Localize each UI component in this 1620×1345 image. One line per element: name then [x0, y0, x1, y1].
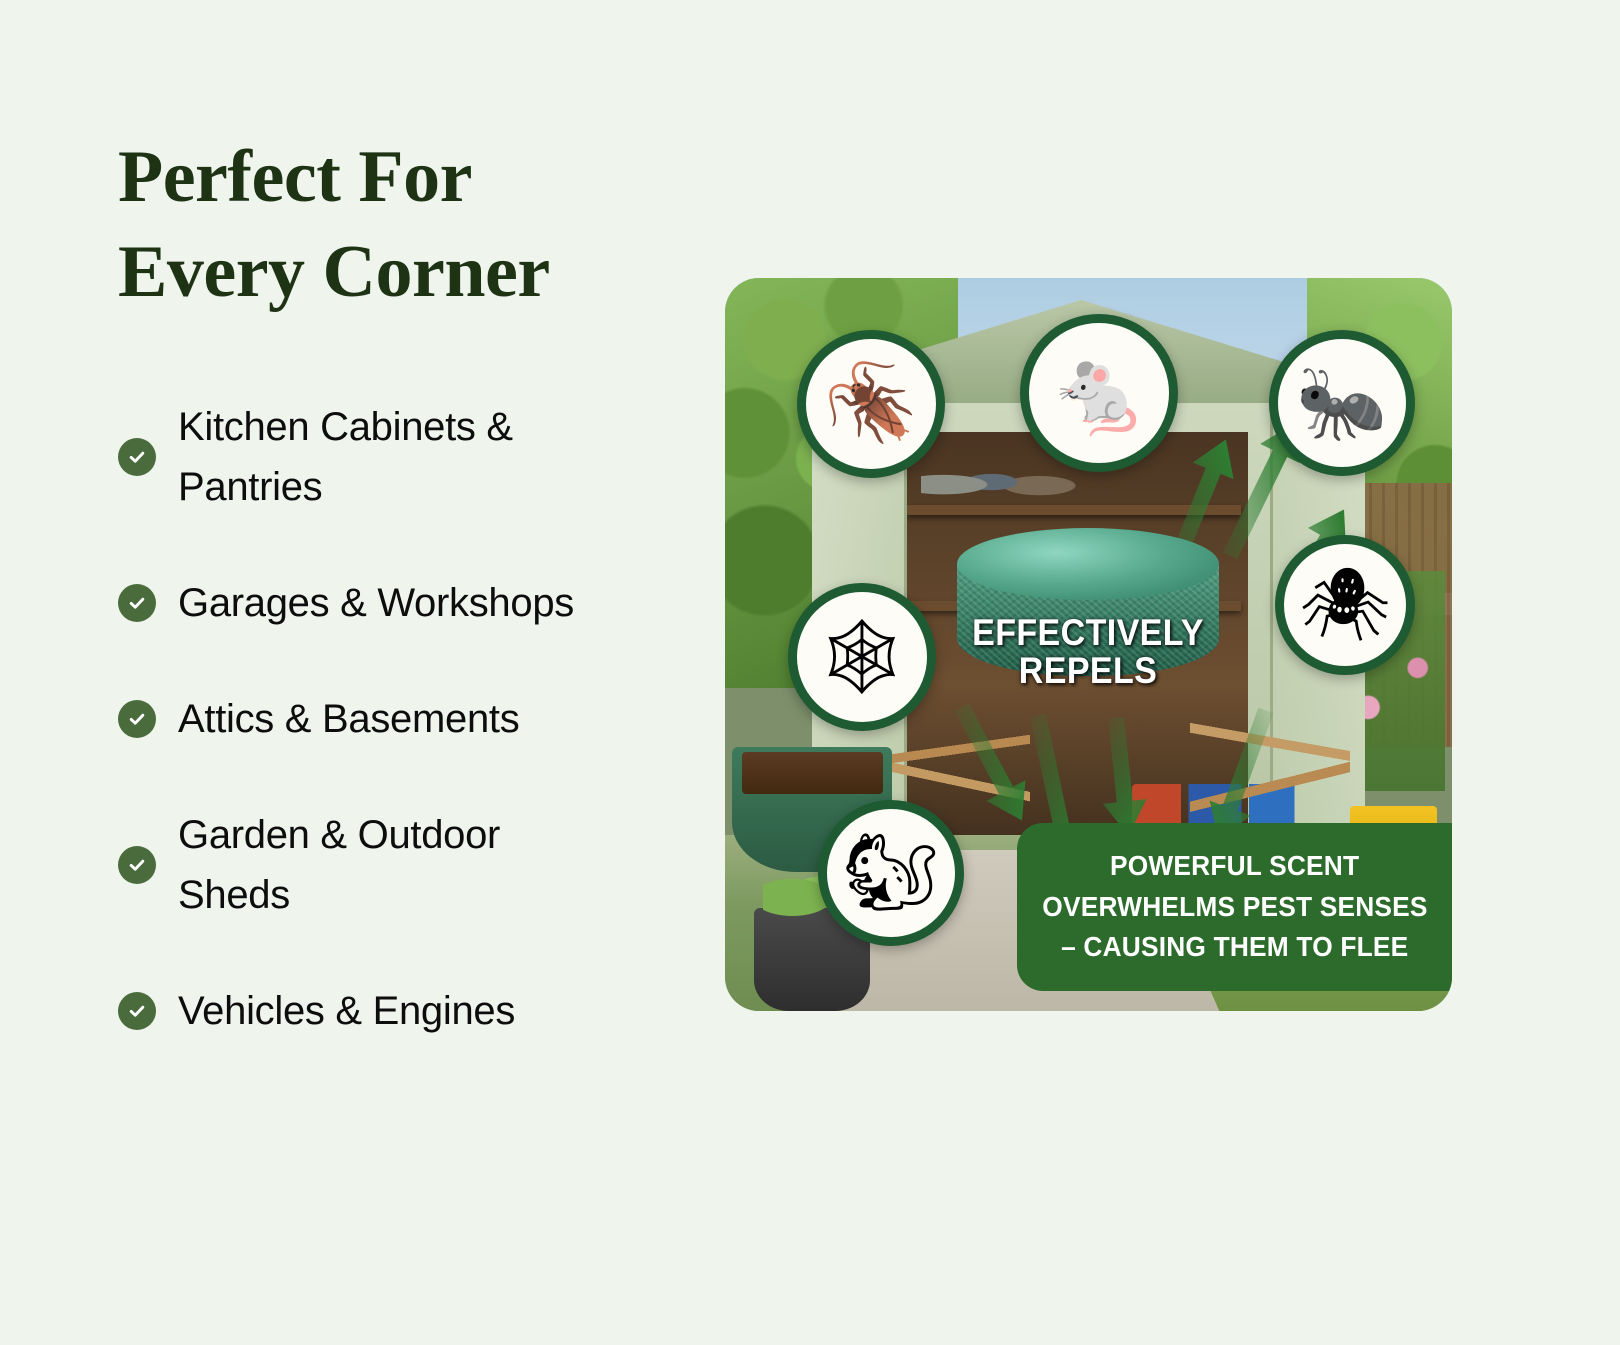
check-circle-icon: [118, 700, 156, 738]
list-item-label: Garden & Outdoor Sheds: [178, 805, 608, 925]
spider-glyph: 🕷: [1299, 569, 1390, 641]
tick-glyph: 🕸: [815, 620, 909, 694]
scent-claim-line-2: OVERWHELMS PEST SENSES: [1042, 887, 1427, 928]
tick-icon: 🕸: [788, 583, 936, 731]
puck-top: [957, 528, 1219, 600]
page-title: Perfect For Every Corner: [118, 130, 698, 319]
benefits-list: Kitchen Cabinets & Pantries Garages & Wo…: [118, 397, 698, 1041]
puck-label-line-1: EFFECTIVELY: [967, 614, 1208, 652]
check-circle-icon: [118, 438, 156, 476]
squirrel-icon: 🐿: [818, 800, 964, 946]
benefits-column: Perfect For Every Corner Kitchen Cabinet…: [118, 130, 698, 1041]
puck-label: EFFECTIVELY REPELS: [967, 614, 1208, 690]
list-item: Garages & Workshops: [118, 573, 698, 633]
scent-claim-line-3: – CAUSING THEM TO FLEE: [1061, 927, 1408, 968]
check-circle-icon: [118, 992, 156, 1030]
shelf-jars: [921, 454, 1081, 505]
list-item: Garden & Outdoor Sheds: [118, 805, 698, 925]
mouse-icon: 🐁: [1020, 314, 1178, 472]
check-circle-icon: [118, 584, 156, 622]
check-circle-icon: [118, 846, 156, 884]
ant-icon: 🐜: [1269, 330, 1415, 476]
puck-label-line-2: REPELS: [967, 652, 1208, 690]
squirrel-glyph: 🐿: [843, 835, 939, 911]
mouse-glyph: 🐁: [1048, 352, 1150, 434]
list-item-label: Garages & Workshops: [178, 573, 574, 633]
list-item-label: Kitchen Cabinets & Pantries: [178, 397, 608, 517]
list-item: Vehicles & Engines: [118, 981, 698, 1041]
promo-page: Perfect For Every Corner Kitchen Cabinet…: [0, 0, 1620, 1345]
list-item-label: Vehicles & Engines: [178, 981, 515, 1041]
repel-arrow-down-icon: [1075, 718, 1155, 838]
list-item-label: Attics & Basements: [178, 689, 519, 749]
page-title-line-1: Perfect For: [118, 130, 698, 225]
product-scene-image: EFFECTIVELY REPELS 🪳 🐁 🐜 🕷 🕸 🐿 POWERFUL …: [725, 278, 1452, 1011]
spider-icon: 🕷: [1275, 535, 1415, 675]
cockroach-icon: 🪳: [797, 330, 945, 478]
page-title-line-2: Every Corner: [118, 225, 698, 320]
scent-claim-banner: POWERFUL SCENT OVERWHELMS PEST SENSES – …: [1017, 823, 1452, 991]
list-item: Attics & Basements: [118, 689, 698, 749]
cockroach-glyph: 🪳: [824, 366, 919, 442]
scent-claim-line-1: POWERFUL SCENT: [1110, 846, 1359, 887]
repellent-puck: EFFECTIVELY REPELS: [957, 528, 1219, 706]
ant-glyph: 🐜: [1296, 366, 1388, 440]
list-item: Kitchen Cabinets & Pantries: [118, 397, 698, 517]
